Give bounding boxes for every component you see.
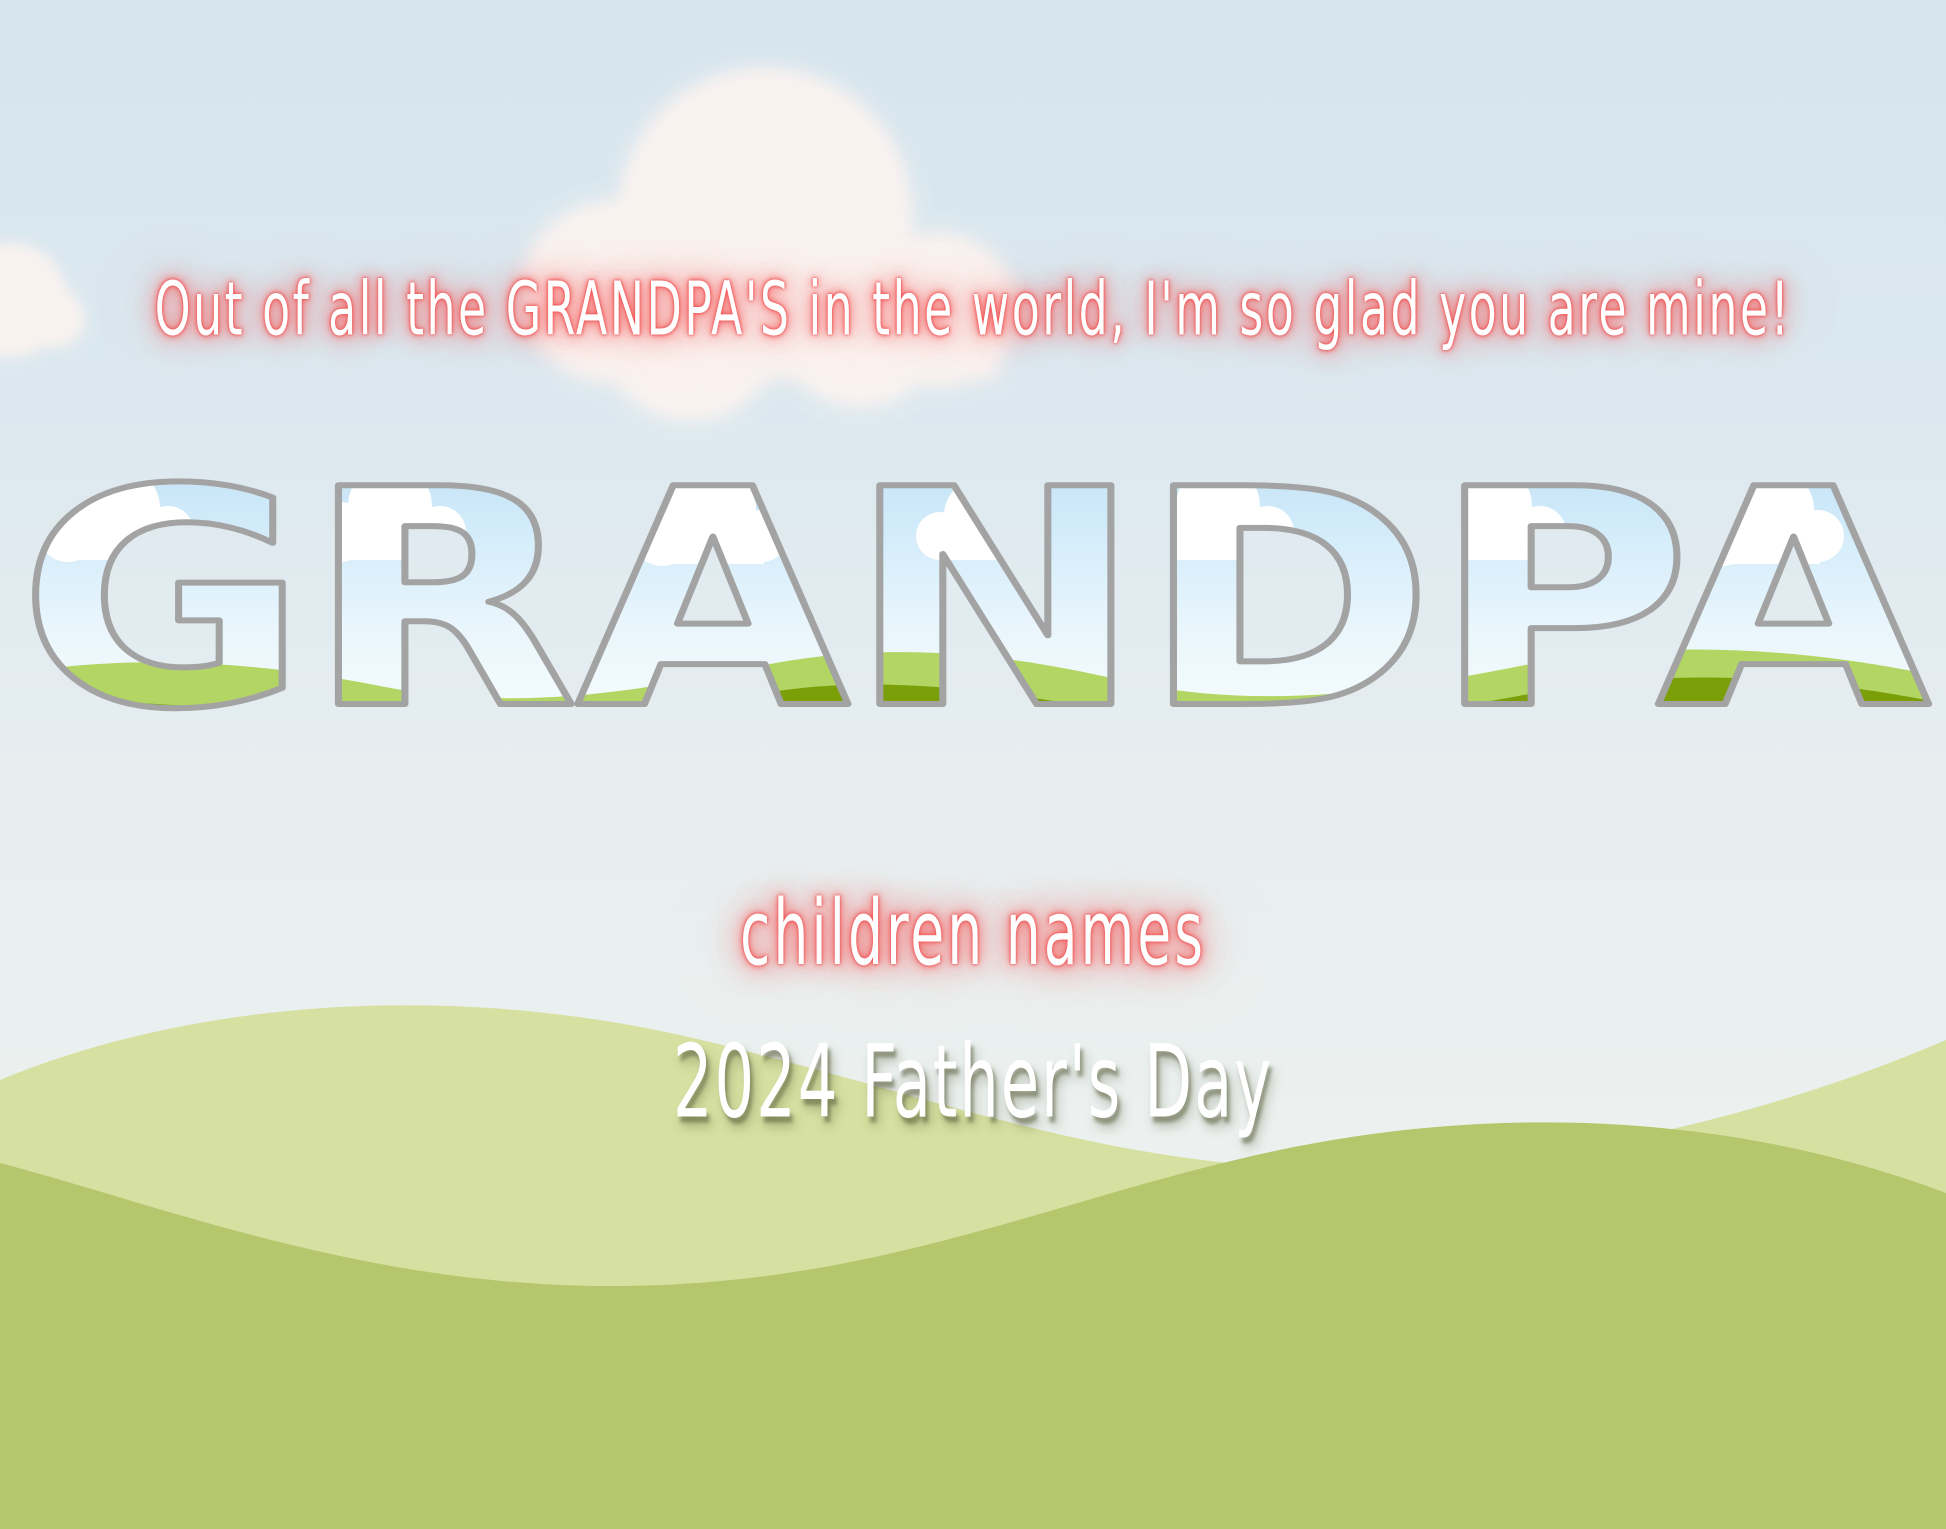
- grandpa-wordmark-svg: GRANDPA GRANDPA: [0, 440, 1946, 770]
- grandpa-wordmark: GRANDPA GRANDPA: [0, 440, 1946, 770]
- fathers-day-label: 2024 Father's Day: [10, 1023, 1937, 1141]
- children-names-label: children names: [10, 880, 1937, 986]
- grandpa-letter-outline: GRANDPA: [18, 440, 1933, 770]
- quote-headline: Out of all the GRANDPA'S in the world, I…: [19, 268, 1926, 353]
- poster-canvas: Out of all the GRANDPA'S in the world, I…: [0, 0, 1946, 1529]
